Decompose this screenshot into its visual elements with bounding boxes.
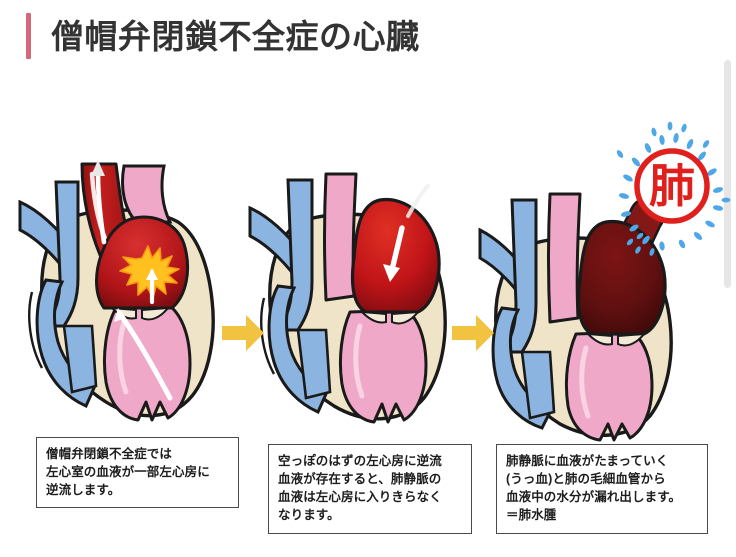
- page-title: 僧帽弁閉鎖不全症の心臓: [26, 10, 420, 62]
- slide-page: 僧帽弁閉鎖不全症の心臓: [0, 0, 736, 557]
- caption-line: 血液中の水分が漏れ出します。: [506, 488, 698, 506]
- caption-line: ＝肺水腫: [506, 506, 698, 524]
- caption-line: 空っぽのはずの左心房に逆流: [278, 452, 462, 470]
- title-accent-bar: [26, 13, 31, 59]
- diagram-row: 肺: [0, 130, 720, 430]
- heart-stage-2: [250, 130, 465, 430]
- caption-line: 左心室の血液が一部左心房に: [46, 463, 229, 481]
- caption-stage-3: 肺静脈に血液がたまっていく (うっ血)と肺の毛細血管から 血液中の水分が漏れ出し…: [496, 444, 708, 534]
- caption-line: 逆流します。: [46, 481, 229, 499]
- caption-stage-2: 空っぽのはずの左心房に逆流 血液が存在すると、肺静脈の 血液は左心房に入りきらな…: [268, 444, 472, 534]
- caption-line: 血液が存在すると、肺静脈の: [278, 470, 462, 488]
- caption-line: なります。: [278, 506, 462, 524]
- flow-arrow-1: [220, 310, 266, 356]
- heart-stage-3: 肺: [480, 130, 695, 430]
- flow-arrow-2: [450, 310, 496, 356]
- caption-line: 肺静脈に血液がたまっていく: [506, 452, 698, 470]
- caption-line: (うっ血)と肺の毛細血管から: [506, 470, 698, 488]
- scrollbar-track[interactable]: [722, 0, 736, 557]
- page-title-text: 僧帽弁閉鎖不全症の心臓: [51, 20, 420, 53]
- lung-badge-label: 肺: [649, 160, 695, 212]
- caption-line: 血液は左心房に入りきらなく: [278, 488, 462, 506]
- heart-stage-1: [20, 130, 235, 430]
- scrollbar-thumb[interactable]: [724, 60, 731, 288]
- caption-stage-1: 僧帽弁閉鎖不全症では 左心室の血液が一部左心房に 逆流します。: [36, 437, 239, 508]
- caption-line: 僧帽弁閉鎖不全症では: [46, 445, 229, 463]
